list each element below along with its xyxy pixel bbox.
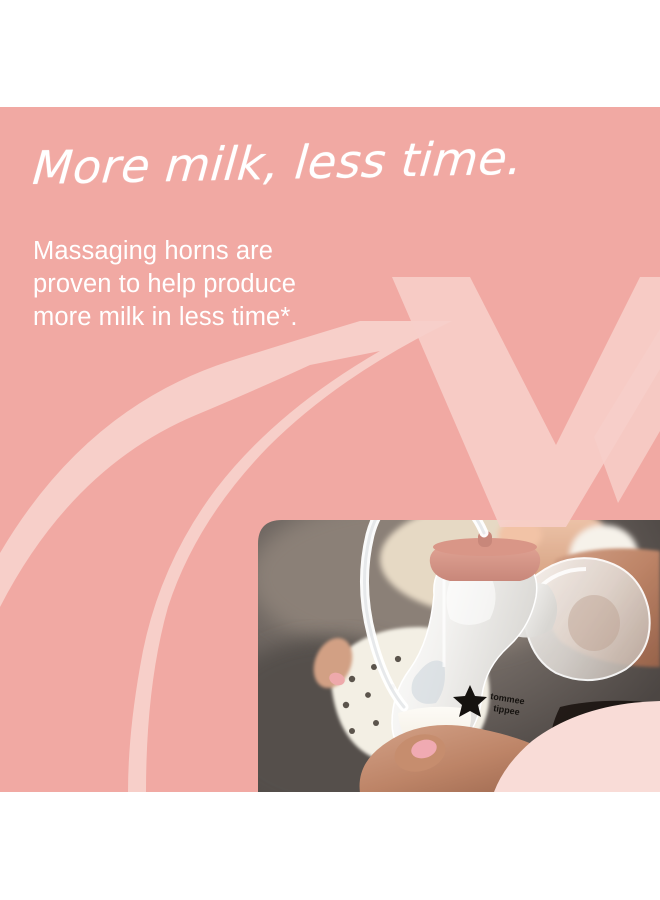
top-white-margin xyxy=(0,0,660,107)
hero-panel: tommee tippee xyxy=(0,107,660,792)
bottom-white-margin xyxy=(0,792,660,900)
product-photo: tommee tippee xyxy=(0,107,660,792)
product-feature-banner: tommee tippee xyxy=(0,0,660,900)
photo-content: tommee tippee xyxy=(210,489,660,792)
